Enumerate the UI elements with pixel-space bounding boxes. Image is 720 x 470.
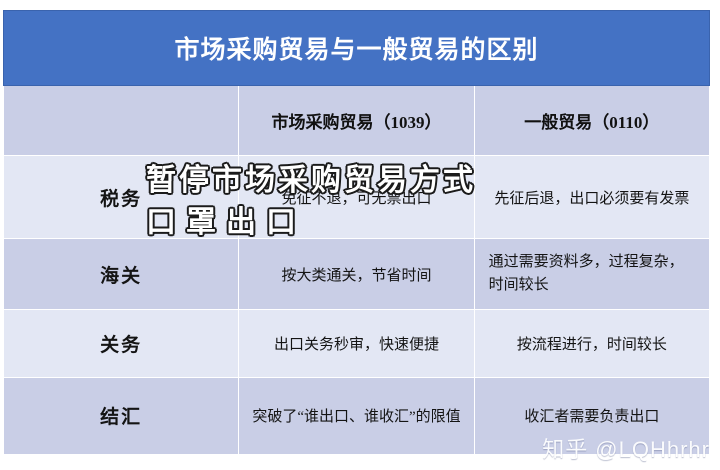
header-cell-general-trade: 一般贸易（0110）: [474, 86, 709, 156]
row-label-customs-affairs: 关务: [4, 309, 239, 377]
header-cell-blank: [4, 86, 239, 156]
comparison-table: 市场采购贸易与一般贸易的区别 市场采购贸易（1039） 一般贸易（0110） 税…: [3, 10, 710, 455]
cell-customs-affairs-market: 出口关务秒审，快速便捷: [239, 309, 474, 377]
cell-settlement-general: 收汇者需要负责出口: [474, 377, 709, 454]
row-label-settlement: 结汇: [4, 377, 239, 454]
table-row: 海关 按大类通关，节省时间 通过需要资料多，过程复杂，时间较长: [4, 239, 710, 309]
cell-settlement-market: 突破了“谁出口、谁收汇”的限值: [239, 377, 474, 454]
table-header-row: 市场采购贸易（1039） 一般贸易（0110）: [4, 86, 710, 156]
cell-tax-market: 免征不退，可无票出口: [239, 156, 474, 239]
cell-customs-market: 按大类通关，节省时间: [239, 239, 474, 309]
row-label-tax: 税务: [4, 156, 239, 239]
table-title-row: 市场采购贸易与一般贸易的区别: [4, 11, 710, 86]
comparison-table-container: 市场采购贸易与一般贸易的区别 市场采购贸易（1039） 一般贸易（0110） 税…: [3, 10, 710, 455]
table-title: 市场采购贸易与一般贸易的区别: [4, 11, 710, 86]
header-cell-market-purchase-trade: 市场采购贸易（1039）: [239, 86, 474, 156]
row-label-customs: 海关: [4, 239, 239, 309]
cell-customs-affairs-general: 按流程进行，时间较长: [474, 309, 709, 377]
table-row: 结汇 突破了“谁出口、谁收汇”的限值 收汇者需要负责出口: [4, 377, 710, 454]
screenshot-root: 市场采购贸易与一般贸易的区别 市场采购贸易（1039） 一般贸易（0110） 税…: [0, 0, 720, 470]
cell-tax-general: 先征后退，出口必须要有发票: [474, 156, 709, 239]
cell-customs-general: 通过需要资料多，过程复杂，时间较长: [474, 239, 709, 309]
table-row: 税务 免征不退，可无票出口 先征后退，出口必须要有发票: [4, 156, 710, 239]
table-row: 关务 出口关务秒审，快速便捷 按流程进行，时间较长: [4, 309, 710, 377]
